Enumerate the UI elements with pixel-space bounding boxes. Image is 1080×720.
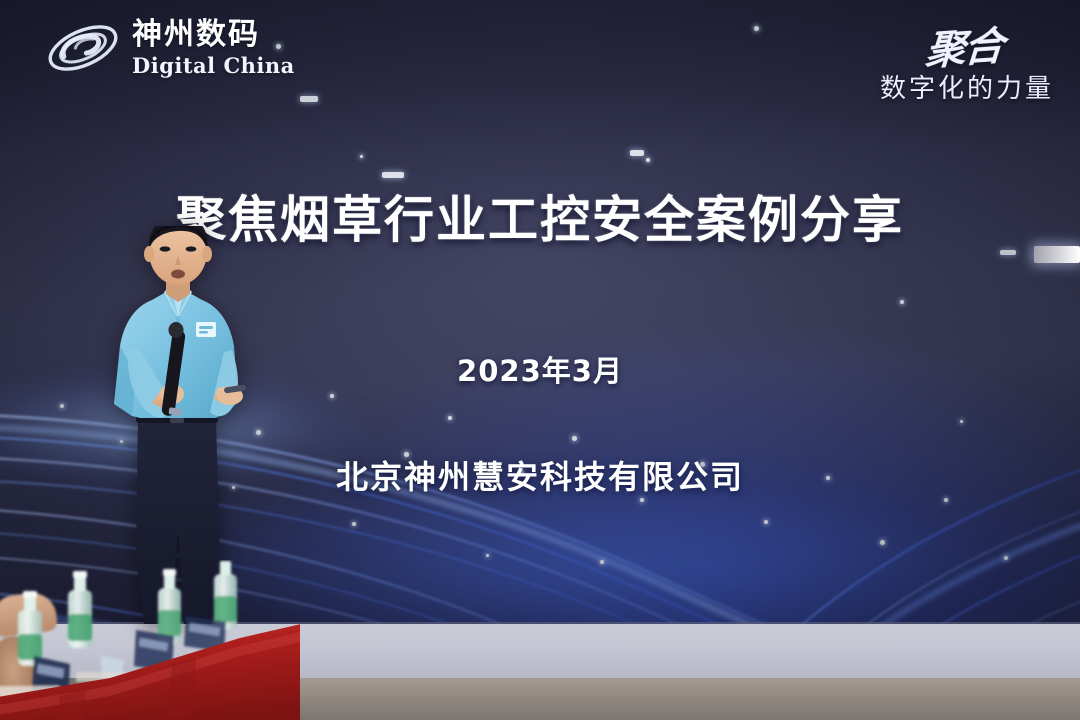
event-slogan: 聚合 数字化的力量 — [804, 16, 1054, 105]
presentation-photo: 神州数码 Digital China 聚合 数字化的力量 聚焦烟草行业工控安全案… — [0, 0, 1080, 720]
water-bottle-icon — [214, 561, 237, 629]
head-table — [0, 560, 300, 720]
chest-logo-badge-icon — [196, 322, 216, 337]
water-bottle-icon — [18, 591, 42, 666]
slogan-calligraphy: 聚合 — [924, 13, 1005, 76]
digital-china-logo: 神州数码 Digital China — [44, 18, 295, 78]
digital-china-spiral-logo-icon — [44, 18, 122, 78]
water-bottle-icon — [68, 571, 92, 648]
logo-english-name: Digital China — [132, 55, 295, 76]
stage-edge-light — [1034, 246, 1080, 263]
water-bottle-icon — [158, 569, 181, 644]
logo-chinese-name: 神州数码 — [132, 20, 295, 50]
